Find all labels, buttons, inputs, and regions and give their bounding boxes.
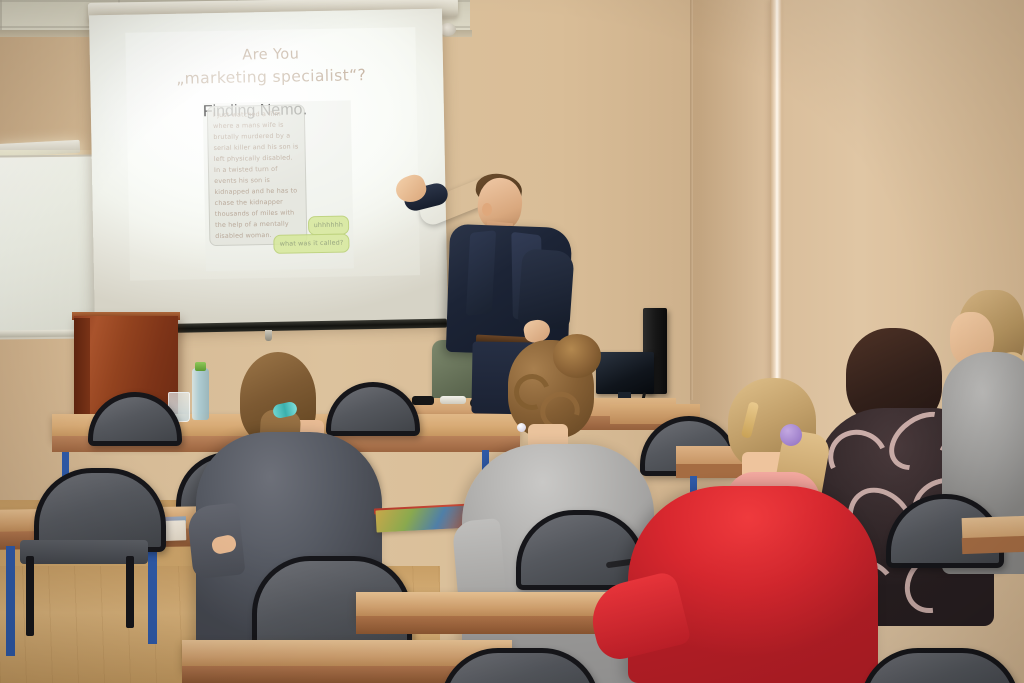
earring — [517, 423, 526, 432]
bottle-cap — [195, 362, 206, 371]
chat-bubble-reply-1: uhhhhhh — [307, 215, 349, 235]
wall-seam — [690, 0, 693, 400]
phone-on-desk — [412, 396, 434, 405]
slide-title: Are You „marketing specialist“? — [125, 27, 416, 91]
projected-slide: Are You „marketing specialist“? I just w… — [125, 27, 420, 281]
chat-bubble-reply-2: what was it called? — [273, 233, 349, 253]
wall-pipe — [770, 0, 782, 430]
presenter-remote — [440, 396, 466, 404]
desk-leg — [6, 546, 15, 656]
desktop-monitor — [596, 352, 654, 394]
desk-leg — [148, 544, 157, 644]
presenter-lapel-left — [466, 230, 496, 316]
pattern-swirl — [820, 421, 896, 494]
hair-tie — [780, 424, 802, 446]
chair-leg — [126, 556, 134, 628]
student-arm — [452, 518, 507, 602]
chat-bubble-incoming: I just watched a film where a mans wife … — [207, 104, 308, 246]
presenter-arm-on-hip — [517, 248, 574, 329]
water-bottle — [192, 368, 209, 420]
hair-bun — [553, 334, 601, 378]
slide-title-line2: „marketing specialist“? — [126, 63, 416, 91]
podium-side-panel — [74, 318, 90, 426]
presenter-ear — [482, 203, 492, 216]
projection-screen: Are You „marketing specialist“? I just w… — [89, 9, 448, 332]
screen-pull-hook[interactable] — [265, 330, 272, 341]
right-row-desk-front — [962, 534, 1024, 554]
wall-corner-shadow — [690, 0, 770, 440]
slide-chat-panel: I just watched a film where a mans wife … — [203, 100, 354, 271]
chair-leg — [26, 556, 34, 636]
classroom-scene: Are You „marketing specialist“? I just w… — [0, 0, 1024, 683]
